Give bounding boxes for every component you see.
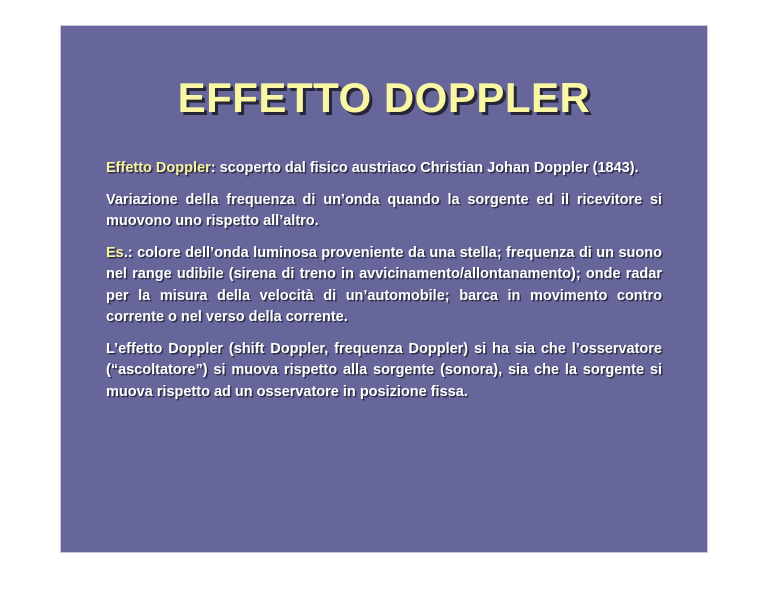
paragraph-3-lead-term: Es [106,245,124,261]
slide-title: EFFETTO DOPPLER [61,74,707,122]
paragraph-1-lead-term: Effetto Doppler [106,160,211,176]
body-paragraph-2: Variazione della frequenza di un’onda qu… [106,190,662,233]
paragraph-3-text: .: colore dell’onda luminosa proveniente… [106,245,662,326]
paragraph-2-text: Variazione della frequenza di un’onda qu… [106,192,662,230]
presentation-slide: EFFETTO DOPPLER Effetto Doppler: scopert… [60,25,708,553]
body-paragraph-1: Effetto Doppler: scoperto dal fisico aus… [106,158,662,180]
paragraph-1-text: : scoperto dal fisico austriaco Christia… [211,160,639,176]
body-paragraph-3: Es.: colore dell’onda luminosa provenien… [106,243,662,329]
body-paragraph-4: L’effetto Doppler (shift Doppler, freque… [106,339,662,404]
paragraph-4-text: L’effetto Doppler (shift Doppler, freque… [106,341,662,400]
slide-body: Effetto Doppler: scoperto dal fisico aus… [106,158,662,403]
